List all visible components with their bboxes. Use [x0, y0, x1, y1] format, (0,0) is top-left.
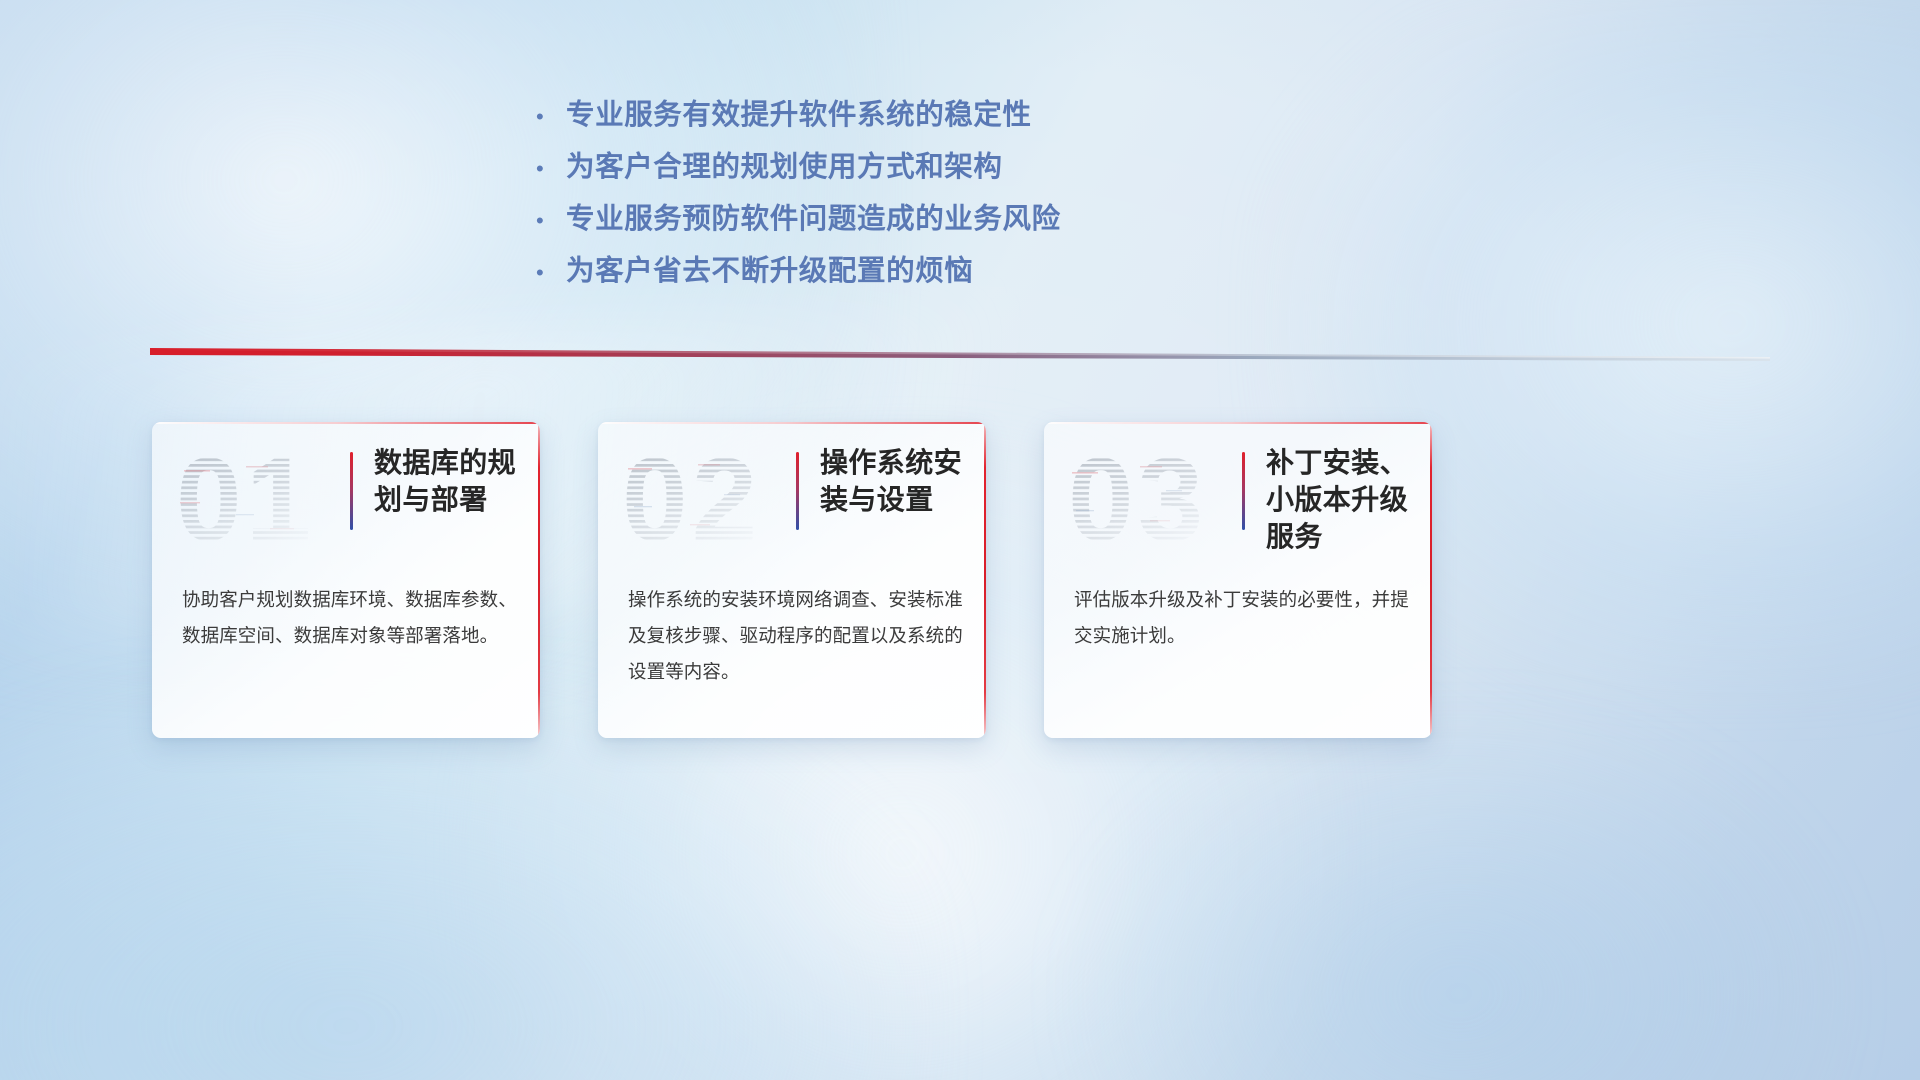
list-item: • 为客户合理的规划使用方式和架构 — [536, 144, 1356, 196]
card-description: 操作系统的安装环境网络调查、安装标准及复核步骤、驱动程序的配置以及系统的设置等内… — [628, 582, 964, 690]
service-card-group: 01 数据库的规划与部署 协助客户规划数据库环境、数据库参数、数据库空间、数据库… — [0, 422, 1920, 742]
divider-blade-shape — [150, 344, 1770, 362]
card-title: 补丁安装、小版本升级服务 — [1266, 444, 1416, 556]
bullet-dot-icon: • — [536, 262, 566, 284]
list-item: • 专业服务预防软件问题造成的业务风险 — [536, 196, 1356, 248]
list-item: • 为客户省去不断升级配置的烦恼 — [536, 248, 1356, 300]
card-header: 01 数据库的规划与部署 — [152, 422, 540, 568]
card-description: 评估版本升级及补丁安装的必要性，并提交实施计划。 — [1074, 582, 1410, 654]
card-number-watermark: 03 — [1066, 436, 1226, 560]
card-accent-bar — [350, 452, 353, 530]
bullet-text: 专业服务有效提升软件系统的稳定性 — [566, 92, 1032, 133]
svg-text:02: 02 — [622, 436, 761, 560]
svg-text:01: 01 — [176, 436, 315, 560]
section-divider — [150, 344, 1770, 362]
striped-number-03-icon: 03 — [1066, 436, 1226, 560]
card-description: 协助客户规划数据库环境、数据库参数、数据库空间、数据库对象等部署落地。 — [182, 582, 518, 654]
striped-number-02-icon: 02 — [620, 436, 780, 560]
striped-number-01-icon: 01 — [174, 436, 334, 560]
card-accent-bar — [1242, 452, 1245, 530]
benefit-bullet-list: • 专业服务有效提升软件系统的稳定性 • 为客户合理的规划使用方式和架构 • 专… — [536, 92, 1356, 300]
card-title: 操作系统安装与设置 — [820, 444, 970, 518]
card-title: 数据库的规划与部署 — [374, 444, 524, 518]
service-card[interactable]: 03 补丁安装、小版本升级服务 评估版本升级及补丁安装的必要性，并提交实施计划。 — [1044, 422, 1432, 738]
card-accent-bar — [796, 452, 799, 530]
service-card[interactable]: 01 数据库的规划与部署 协助客户规划数据库环境、数据库参数、数据库空间、数据库… — [152, 422, 540, 738]
bullet-dot-icon: • — [536, 210, 566, 232]
card-header: 02 操作系统安装与设置 — [598, 422, 986, 568]
service-card[interactable]: 02 操作系统安装与设置 操作系统的安装环境网络调查、安装标准及复核步骤、驱动程… — [598, 422, 986, 738]
card-number-watermark: 01 — [174, 436, 334, 560]
bullet-text: 为客户省去不断升级配置的烦恼 — [566, 248, 973, 289]
bullet-dot-icon: • — [536, 106, 566, 128]
card-header: 03 补丁安装、小版本升级服务 — [1044, 422, 1432, 568]
bullet-dot-icon: • — [536, 158, 566, 180]
svg-text:03: 03 — [1068, 436, 1207, 560]
bullet-text: 为客户合理的规划使用方式和架构 — [566, 144, 1003, 185]
list-item: • 专业服务有效提升软件系统的稳定性 — [536, 92, 1356, 144]
bullet-text: 专业服务预防软件问题造成的业务风险 — [566, 196, 1061, 237]
card-number-watermark: 02 — [620, 436, 780, 560]
